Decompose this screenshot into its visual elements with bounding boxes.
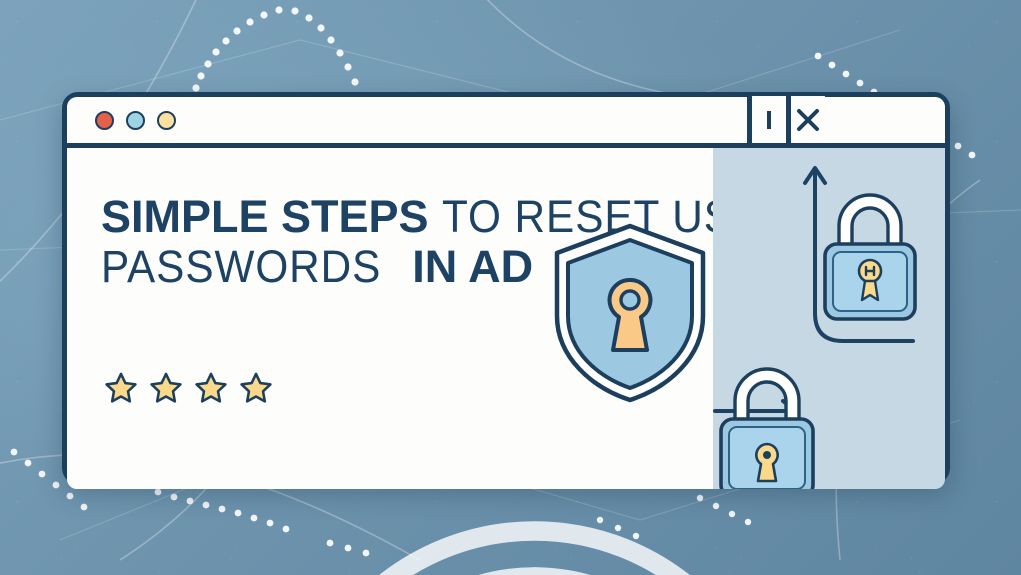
minimize-icon	[761, 107, 777, 133]
star-2	[148, 370, 184, 406]
star-1	[103, 370, 139, 406]
close-dot[interactable]	[95, 111, 114, 130]
browser-window-card: SIMPLE STEPS TO RESET USER PASSWORDS IN …	[62, 92, 950, 484]
headline-bold-2: IN AD	[412, 241, 533, 292]
window-title-bar	[67, 97, 945, 148]
padlock-ribbon-icon	[825, 195, 915, 319]
maximize-dot[interactable]	[157, 111, 176, 130]
star-3	[193, 370, 229, 406]
close-button[interactable]	[791, 96, 825, 143]
star-4	[238, 370, 274, 406]
minimize-dot[interactable]	[126, 111, 145, 130]
close-icon	[795, 107, 821, 133]
padlock-keyhole-icon	[721, 369, 813, 489]
window-controls	[747, 96, 825, 143]
headline-light-2: PASSWORDS	[101, 242, 381, 292]
poster-canvas: SIMPLE STEPS TO RESET USER PASSWORDS IN …	[0, 0, 1021, 575]
illustration-art	[713, 148, 945, 489]
illustration-pane	[713, 148, 945, 489]
headline-bold-1: SIMPLE STEPS	[101, 191, 429, 242]
window-body: SIMPLE STEPS TO RESET USER PASSWORDS IN …	[67, 148, 945, 489]
minimize-button[interactable]	[752, 96, 786, 143]
star-rating	[103, 370, 274, 406]
shield-keyhole-icon	[543, 218, 718, 408]
traffic-light-dots	[67, 111, 176, 130]
